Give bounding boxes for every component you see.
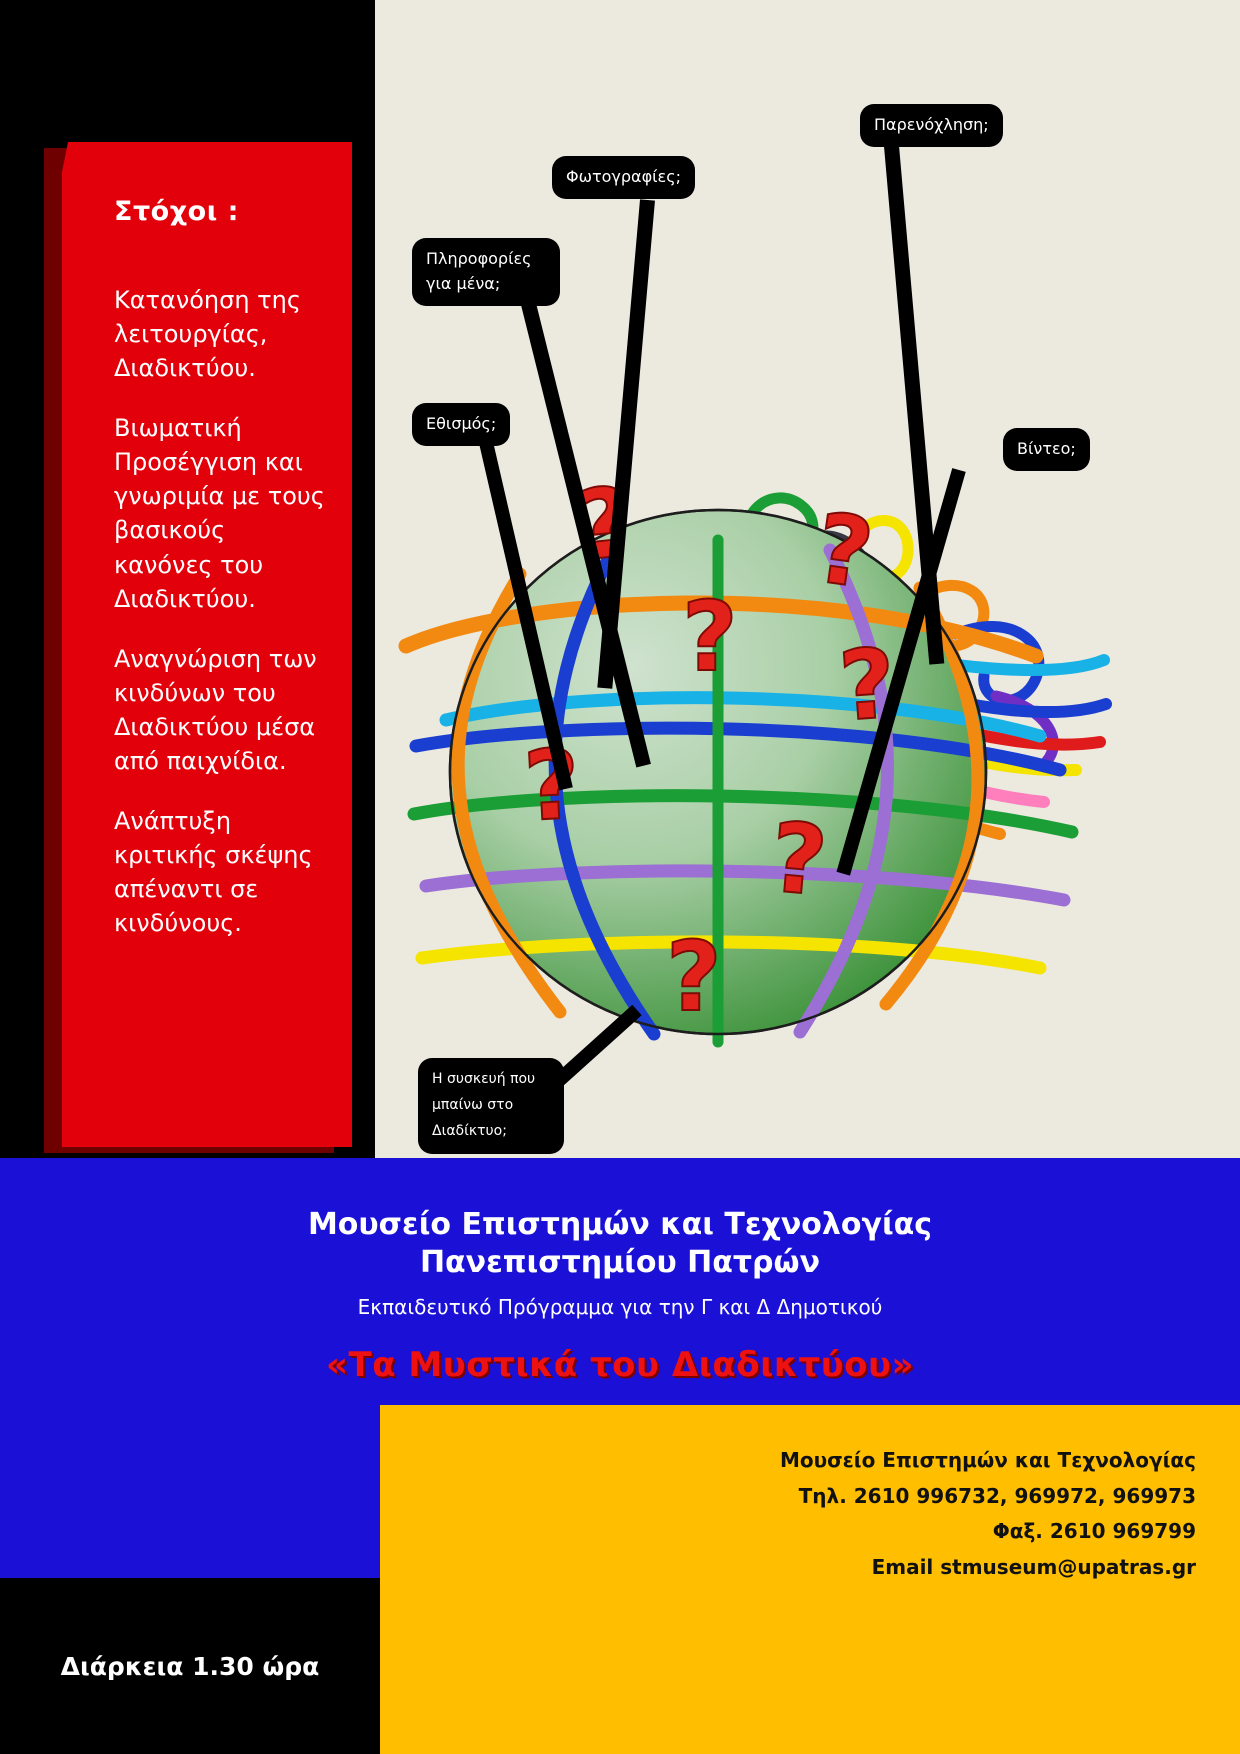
program-title: «Τα Μυστικά του Διαδικτύου»	[0, 1319, 1240, 1385]
contact-info-box: Μουσείο Επιστημών και Τεχνολογίας Τηλ. 2…	[380, 1405, 1240, 1754]
museum-name-line1: Μουσείο Επιστημών και Τεχνολογίας	[0, 1158, 1240, 1244]
bubble-photos[interactable]: Φωτογραφίες;	[552, 156, 695, 199]
bubble-video[interactable]: Βίντεο;	[1003, 428, 1090, 471]
svg-text:?: ?	[682, 581, 738, 693]
objectives-box: Στόχοι : Κατανόηση της λειτουργίας, Διαδ…	[62, 142, 352, 1147]
bubble-addiction[interactable]: Εθισμός;	[412, 403, 510, 446]
objective-item-1: Κατανόηση της λειτουργίας, Διαδικτύου.	[114, 283, 326, 385]
museum-name-line2: Πανεπιστημίου Πατρών	[0, 1244, 1240, 1282]
svg-text:?: ?	[766, 801, 831, 917]
bubble-device[interactable]: Η συσκευή που μπαίνω στο Διαδίκτυο;	[418, 1058, 564, 1154]
contact-fax: Φαξ. 2610 969799	[380, 1514, 1196, 1550]
contact-email[interactable]: Email stmuseum@upatras.gr	[380, 1550, 1196, 1586]
bubble-my-info[interactable]: Πληροφορίες για μένα;	[412, 238, 560, 306]
contact-phone: Τηλ. 2610 996732, 969972, 969973	[380, 1479, 1196, 1515]
objectives-heading: Στόχοι :	[114, 196, 326, 227]
contact-museum-name: Μουσείο Επιστημών και Τεχνολογίας	[380, 1443, 1196, 1479]
poster-canvas: Στόχοι : Κατανόηση της λειτουργίας, Διαδ…	[0, 0, 1240, 1754]
museum-footer-band: Μουσείο Επιστημών και Τεχνολογίας Πανεπι…	[0, 1158, 1240, 1405]
svg-text:?: ?	[666, 921, 722, 1033]
objective-item-3: Αναγνώριση των κινδύνων του Διαδικτύου μ…	[114, 642, 326, 778]
program-subtitle: Εκπαιδευτικό Πρόγραμμα για την Γ και Δ Δ…	[0, 1281, 1240, 1319]
objective-item-2: Βιωματική Προσέγγιση και γνωριμία με του…	[114, 411, 326, 615]
duration-label: Διάρκεια 1.30 ώρα	[0, 1578, 380, 1754]
bottom-left-blue-strip	[0, 1405, 380, 1578]
objective-item-4: Ανάπτυξη κριτικής σκέψης απέναντι σε κιν…	[114, 804, 326, 940]
bubble-harassment[interactable]: Παρενόχληση;	[860, 104, 1003, 147]
